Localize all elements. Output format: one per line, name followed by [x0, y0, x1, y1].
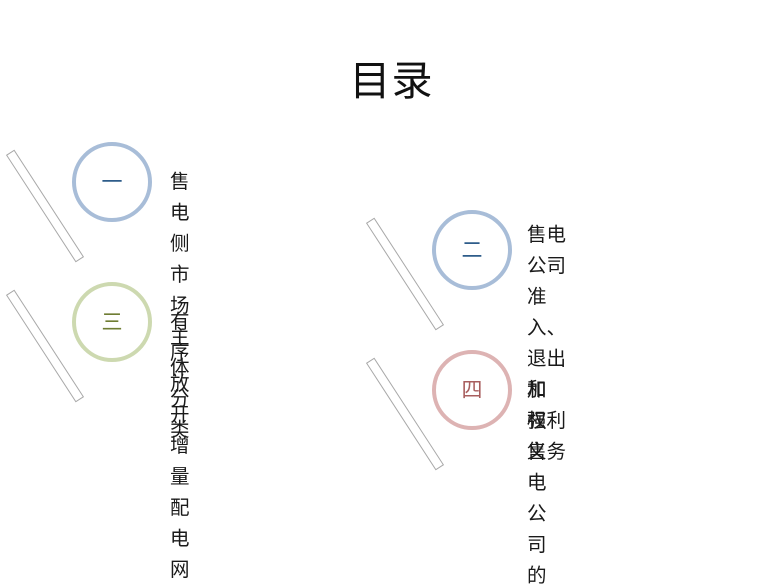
numeral-label-4: 四 [462, 380, 483, 401]
numeral-circle-2: 二 [432, 210, 512, 290]
numeral-label-2: 二 [462, 240, 483, 261]
page-title: 目录 [0, 58, 783, 105]
toc-item-label-3: 有序放开增量配电网 [170, 307, 190, 584]
diagonal-bar-icon [366, 218, 444, 331]
numeral-label-1: 一 [102, 172, 123, 193]
numeral-label-3: 三 [102, 312, 123, 333]
numeral-circle-3: 三 [72, 282, 152, 362]
diagonal-bar-icon [6, 150, 84, 263]
diagonal-bar-icon [366, 358, 444, 471]
numeral-circle-1: 一 [72, 142, 152, 222]
toc-item-label-4: 加强售电公司的管理 [527, 375, 547, 584]
diagonal-bar-icon [6, 290, 84, 403]
slide-canvas: 目录 一 售电侧市场主体分类 二 售电公司准入、退出和 权利义务 三 有序放开增… [0, 0, 783, 584]
numeral-circle-4: 四 [432, 350, 512, 430]
